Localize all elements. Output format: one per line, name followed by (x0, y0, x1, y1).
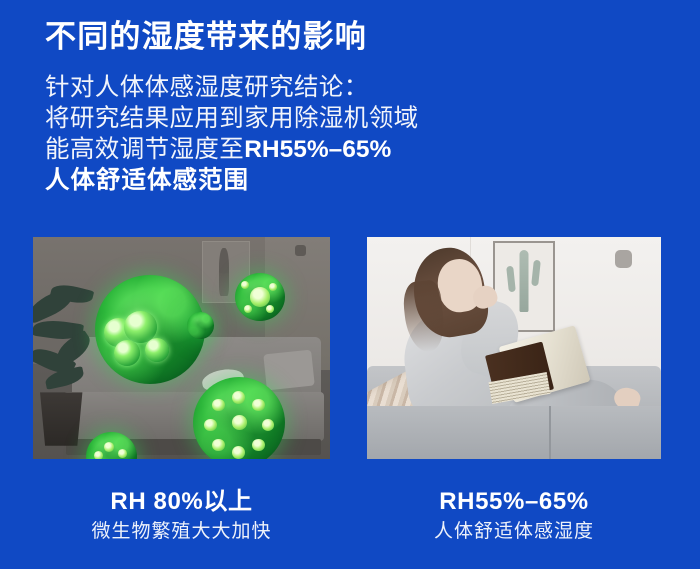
sofa-seam (549, 406, 551, 459)
cactus-artwork (520, 250, 529, 312)
intro-line-3-highlight: RH55%–65% (244, 136, 391, 163)
comparison-panels (0, 237, 700, 459)
microbe-core (250, 287, 270, 307)
microbe-spike (212, 439, 225, 452)
caption-comfort-humidity: RH55%–65% 人体舒适体感湿度 (367, 486, 661, 546)
microbe-spike (104, 442, 114, 452)
wall-knob (615, 250, 632, 268)
photo-high-humidity (33, 237, 330, 459)
photo-comfort-humidity (367, 237, 661, 459)
microbe-sphere (193, 377, 285, 459)
caption-high-humidity: RH 80%以上 微生物繁殖大大加快 (33, 486, 330, 546)
caption-main-label: RH 80%以上 (33, 486, 330, 518)
microbe-spike (232, 446, 245, 459)
microbe-texture (187, 312, 214, 339)
intro-line-4: 人体舒适体感范围 (45, 165, 665, 196)
bright-room-illustration (367, 237, 661, 459)
intro-line-3: 能高效调节湿度至RH55%–65% (45, 134, 665, 165)
microbe-sphere-small (187, 312, 214, 339)
microbe-sphere (235, 273, 285, 322)
dark-room-illustration (33, 237, 330, 459)
sofa-seat (367, 406, 661, 459)
page-title: 不同的湿度带来的影响 (45, 18, 665, 56)
microbe-spike (118, 449, 127, 458)
intro-line-1: 针对人体体感湿度研究结论： (45, 72, 665, 103)
heading-block: 不同的湿度带来的影响 针对人体体感湿度研究结论： 将研究结果应用到家用除湿机领域… (45, 18, 665, 196)
microbe-spike (94, 451, 103, 459)
intro-line-3-prefix: 能高效调节湿度至 (45, 136, 244, 163)
microbe-spike (232, 391, 245, 404)
microbe-spike (212, 399, 225, 412)
caption-main-label: RH55%–65% (367, 486, 661, 518)
intro-paragraph: 针对人体体感湿度研究结论： 将研究结果应用到家用除湿机领域 能高效调节湿度至RH… (45, 72, 665, 196)
microbe-core (232, 415, 247, 430)
microbe-sphere (86, 432, 136, 459)
microbe-spike (244, 305, 252, 313)
wall-knob (295, 245, 306, 256)
intro-line-2: 将研究结果应用到家用除湿机领域 (45, 103, 665, 134)
caption-sub-label: 人体舒适体感湿度 (367, 518, 661, 546)
caption-sub-label: 微生物繁殖大大加快 (33, 518, 330, 546)
microbe-spike (266, 305, 274, 313)
microbe-bud (145, 338, 169, 362)
